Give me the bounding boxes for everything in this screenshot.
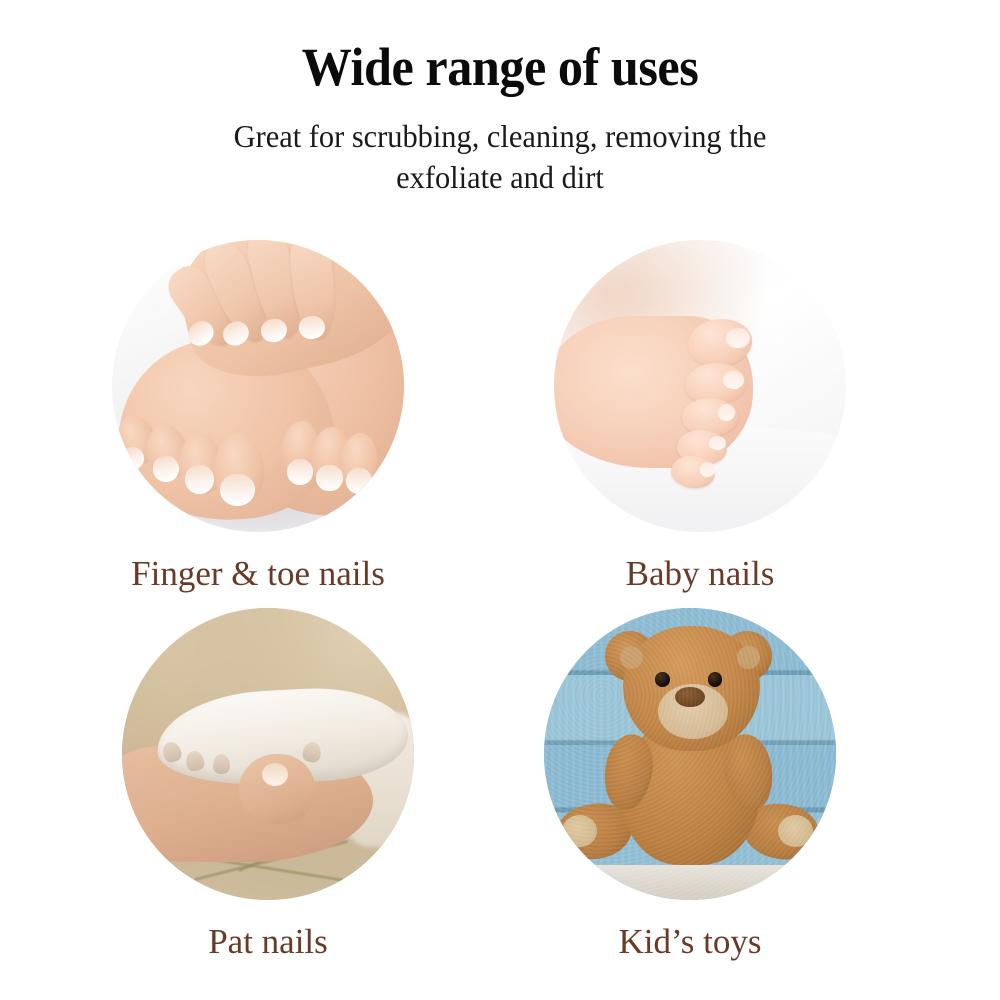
use-case-caption: Finger & toe nails [48,554,468,594]
use-case-caption: Pat nails [58,922,478,962]
product-feature-page: Wide range of uses Great for scrubbing, … [0,0,1000,1000]
use-case-grid: Finger & toe nails [0,240,1000,980]
use-case-item: Kid’s toys [480,608,900,962]
baby-foot-photo [554,240,846,532]
use-case-caption: Kid’s toys [480,922,900,962]
use-case-item: Baby nails [490,240,910,594]
page-header: Wide range of uses Great for scrubbing, … [0,36,1000,198]
use-case-caption: Baby nails [490,554,910,594]
teddy-bear-photo [544,608,836,900]
dog-paw-in-human-hand-photo [122,608,414,900]
feet-and-hand-with-french-manicure-photo [112,240,404,532]
use-case-item: Finger & toe nails [48,240,468,594]
use-case-item: Pat nails [58,608,478,962]
page-subtitle: Great for scrubbing, cleaning, removing … [196,116,804,198]
page-title: Wide range of uses [35,36,965,98]
